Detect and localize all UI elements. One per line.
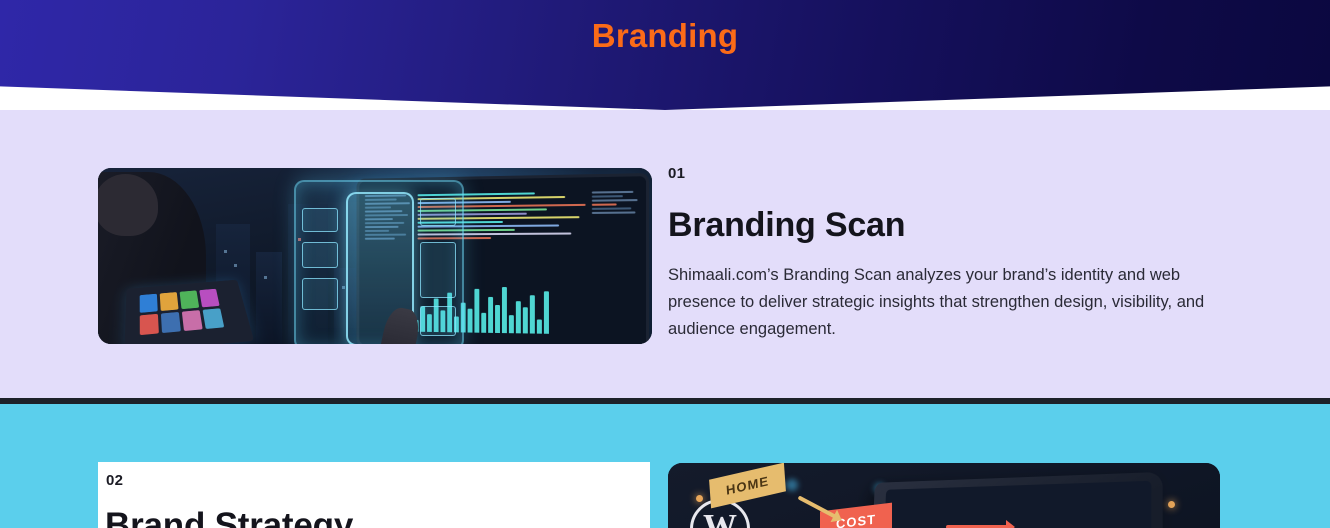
glow-dot bbox=[696, 495, 703, 502]
building-shape bbox=[256, 252, 282, 344]
thumb bbox=[182, 310, 203, 331]
section-body: Shimaali.com’s Branding Scan analyzes yo… bbox=[668, 262, 1228, 342]
section-index: 01 bbox=[668, 165, 1228, 183]
section-branding-scan: 01 Branding Scan Shimaali.com’s Branding… bbox=[0, 110, 1330, 400]
window-light bbox=[264, 276, 267, 279]
holo-widget bbox=[420, 198, 456, 226]
glow-dot bbox=[786, 479, 798, 491]
thumb bbox=[161, 312, 181, 333]
tech-desk-illustration bbox=[98, 168, 652, 344]
section-heading: Branding Scan bbox=[668, 206, 1228, 244]
wordpress-sitemap-illustration: W HOME ABOUT COST bbox=[668, 463, 1220, 528]
thumb bbox=[180, 290, 200, 309]
label-home: HOME bbox=[709, 463, 786, 508]
laptop-screen bbox=[882, 481, 1152, 528]
brand-strategy-image: W HOME ABOUT COST bbox=[668, 463, 1220, 528]
thumb bbox=[199, 289, 219, 308]
code-right-panel bbox=[592, 191, 638, 214]
branding-scan-text: 01 Branding Scan Shimaali.com’s Branding… bbox=[668, 165, 1228, 342]
laptop-device bbox=[870, 472, 1163, 528]
brand-strategy-card: 02 Brand Strategy bbox=[98, 462, 650, 528]
holo-widget bbox=[302, 242, 338, 268]
hero-header: Branding bbox=[0, 0, 1330, 110]
window-light bbox=[234, 264, 237, 267]
holo-widget bbox=[302, 208, 338, 232]
holo-widget bbox=[420, 242, 456, 298]
branding-scan-image bbox=[98, 168, 652, 344]
section-brand-strategy: 02 Brand Strategy W HOME ABOUT COST bbox=[0, 404, 1330, 528]
page-root: Branding bbox=[0, 0, 1330, 528]
thumb bbox=[160, 292, 179, 311]
brand-strategy-text: 02 Brand Strategy bbox=[98, 472, 650, 528]
section-heading: Brand Strategy bbox=[103, 506, 650, 528]
tablet-device bbox=[124, 280, 254, 344]
window-light bbox=[224, 250, 227, 253]
tablet-thumbnail-grid bbox=[140, 289, 225, 335]
holographic-ui bbox=[294, 180, 464, 344]
holo-widget bbox=[420, 306, 456, 336]
glow-dot bbox=[1168, 501, 1175, 508]
thumb bbox=[140, 314, 159, 335]
thumb bbox=[140, 294, 158, 313]
person-head bbox=[98, 174, 158, 236]
thumb bbox=[203, 308, 225, 329]
page-title: Branding bbox=[592, 18, 738, 54]
holo-widget bbox=[302, 278, 338, 310]
arrow-home bbox=[798, 495, 837, 518]
section-index: 02 bbox=[103, 472, 650, 490]
